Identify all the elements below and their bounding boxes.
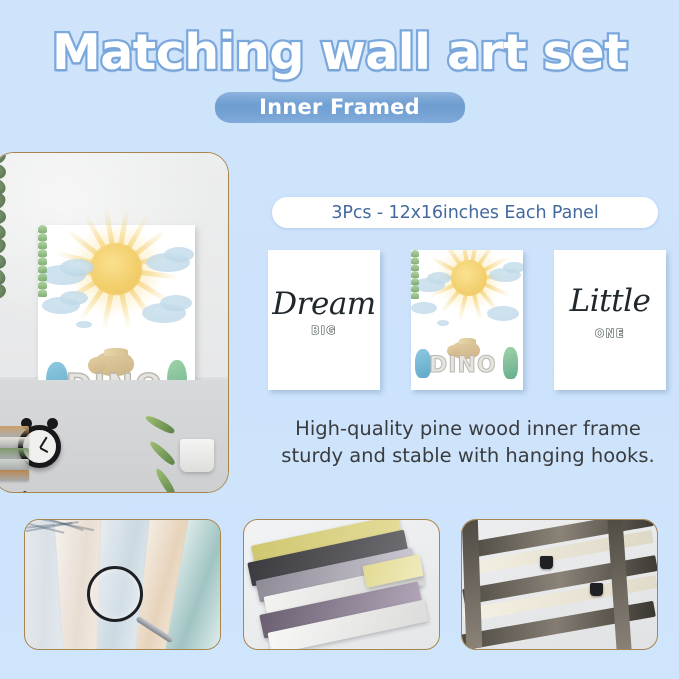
cloud-shape xyxy=(427,272,451,284)
cloud-shape xyxy=(160,295,192,311)
grass-tuft xyxy=(411,278,419,285)
hanging-hook-icon xyxy=(540,556,553,569)
cloud-shape xyxy=(411,302,437,314)
grass-tuft xyxy=(38,265,47,273)
panel-script-text: Dream xyxy=(268,286,380,322)
succulent-leaves xyxy=(170,400,218,444)
header: Matching wall art set Inner Framed xyxy=(0,0,679,140)
eucalyptus-branch-decor xyxy=(0,152,61,225)
eucalyptus-leaf xyxy=(0,208,7,225)
description-line-1: High-quality pine wood inner frame xyxy=(268,415,668,442)
product-infographic: Matching wall art set Inner Framed DINO xyxy=(0,0,679,679)
panel-block-text: BIG xyxy=(268,325,380,337)
dream-big-panel: Dream BIG xyxy=(268,250,380,390)
grass-tuft xyxy=(38,257,47,265)
pencils-decor xyxy=(0,298,11,344)
sun-icon xyxy=(90,243,142,295)
grass-tuft xyxy=(38,273,47,281)
description-text: High-quality pine wood inner frame sturd… xyxy=(268,415,668,469)
little-one-panel: Little ONE xyxy=(554,250,666,390)
book xyxy=(0,448,29,459)
book xyxy=(0,459,29,470)
cloud-shape xyxy=(437,320,449,326)
subtitle-banner: Inner Framed xyxy=(0,89,679,125)
size-badge: 3Pcs - 12x16inches Each Panel xyxy=(272,197,658,228)
dinosaur-tan-plates xyxy=(459,338,476,344)
artwork-word: DINO xyxy=(429,353,497,378)
canvas-material-closeup xyxy=(24,519,221,650)
clock-hand-hour xyxy=(39,447,48,453)
feature-thumbnails xyxy=(24,519,658,654)
page-title: Matching wall art set xyxy=(0,24,679,81)
grass-tuft xyxy=(38,249,47,257)
grass-tuft xyxy=(38,225,47,233)
plant-pot-decor xyxy=(180,439,214,472)
cloud-shape xyxy=(60,259,94,276)
dinosaur-green xyxy=(503,347,518,379)
cloud-shape xyxy=(60,291,88,305)
room-scene-photo: DINO xyxy=(0,152,229,493)
book xyxy=(0,437,29,448)
panel-script-text: Little xyxy=(554,283,666,319)
stacked-frames-photo xyxy=(243,519,440,650)
grass-tuft xyxy=(411,285,419,292)
books-decor xyxy=(0,426,29,486)
description-line-2: sturdy and stable with hanging hooks. xyxy=(268,442,668,469)
cloud-shape xyxy=(487,306,519,321)
hanging-hook-icon xyxy=(590,583,603,596)
panel-set: Dream BIG DINO Little ONE xyxy=(268,250,666,392)
grass-tuft xyxy=(38,241,47,249)
cloud-shape xyxy=(164,247,194,262)
grass-tuft xyxy=(411,264,419,271)
frame-bar xyxy=(462,519,483,648)
grass-tuft xyxy=(411,250,419,257)
grass-tuft xyxy=(38,289,47,297)
dinosaur-tan-plates xyxy=(104,348,128,356)
frame-back-hooks-photo xyxy=(461,519,658,650)
size-badge-label: 3Pcs - 12x16inches Each Panel xyxy=(331,203,598,223)
grass-tuft xyxy=(411,292,419,299)
eucalyptus-leaf xyxy=(0,162,7,180)
cloud-shape xyxy=(503,262,523,273)
book xyxy=(0,470,29,481)
sun-icon xyxy=(451,260,487,296)
grass-tuft xyxy=(38,281,47,289)
panel-block-text: ONE xyxy=(554,328,666,340)
subtitle-label: Inner Framed xyxy=(259,95,420,119)
book xyxy=(0,426,29,437)
rolled-canvas-group xyxy=(25,520,220,529)
cloud-shape xyxy=(76,321,92,328)
grass-tuft xyxy=(411,257,419,264)
dino-artwork-panel: DINO xyxy=(411,250,523,390)
grass-tuft xyxy=(411,271,419,278)
magnifier-icon xyxy=(87,566,143,622)
room-background: DINO xyxy=(0,153,228,492)
clock-legs xyxy=(1,491,28,493)
brush-stroke-shape: Inner Framed xyxy=(215,92,465,123)
grass-tuft xyxy=(38,233,47,241)
